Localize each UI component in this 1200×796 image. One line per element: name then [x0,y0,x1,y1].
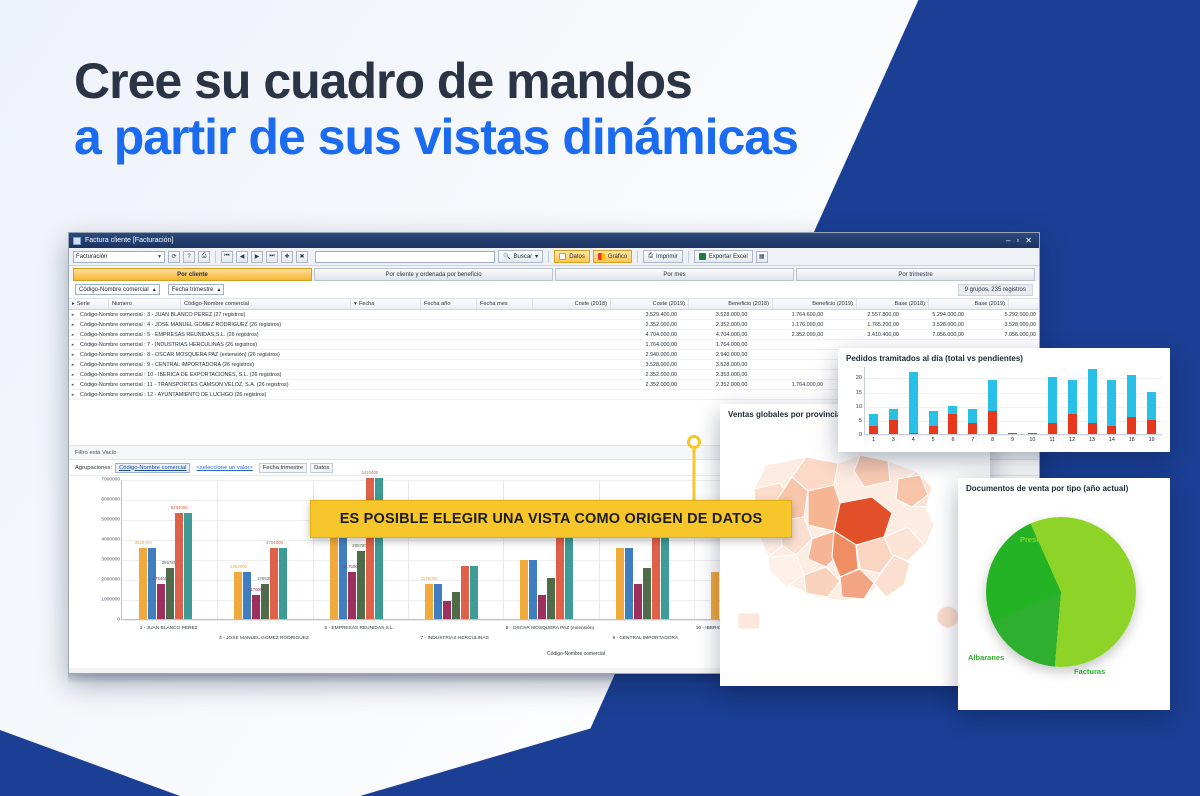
grid-cell-ba19: 3.528.000,00 [967,322,1039,328]
chevron-down-icon: ▲ [152,287,157,293]
x-axis-tick-label: 10 [1029,437,1035,443]
bar[interactable] [452,592,460,619]
expand-icon[interactable]: ▸ [69,312,77,318]
grid-cell-c18: 3.529.400,00 [610,312,680,318]
bar-pending [869,426,878,435]
minimize-icon[interactable]: – [1006,237,1011,245]
grid-column-label: Numero [112,301,132,307]
excel-icon [699,253,706,260]
app-icon [73,237,81,245]
imprimir-button[interactable]: ⎙ Imprimir [643,250,682,263]
grid-cell-ba18: 5.294.000,00 [902,312,967,318]
pie-label-presupuestos: Presupuestos [1020,535,1070,544]
records-info: 9 grupos, 235 registros [958,284,1033,296]
x-axis-tick-label: 4 [912,437,915,443]
x-axis-tick-label: 3 [892,437,895,443]
grid-cell-b19: 1.765.200,00 [826,322,902,328]
exportar-excel-button[interactable]: Exportar Excel [694,250,753,263]
tab-3[interactable]: Por trimestre [796,268,1035,281]
tab-0[interactable]: Por cliente [73,268,312,281]
expand-icon[interactable]: ▸ [69,332,77,338]
bar-pending [1048,423,1057,434]
expand-icon[interactable]: ▸ [69,362,77,368]
pedidos-chart-plot: 051015201345678910111213141819 [864,367,1162,435]
pie-chart-title: Documentos de venta por tipo (año actual… [958,478,1170,495]
bar-column[interactable] [988,366,997,434]
imprimir-button-label: Imprimir [656,254,678,260]
grid-cell-c19: 1.764.000,00 [680,342,750,348]
bar-pending [948,414,957,434]
grid-column-label: Beneficio (2018) [728,301,769,307]
bar[interactable]: 5294000 [175,513,183,619]
bar-value-label: 1176000 [421,576,438,581]
bar[interactable] [243,572,251,619]
bar[interactable] [547,578,555,619]
view-tabs: Por clientePor cliente y ordenada por be… [69,266,1039,281]
bar-column[interactable] [1147,366,1156,434]
bar-column[interactable] [889,366,898,434]
filter-label: Filtro está Vacío [75,450,116,456]
grid-cell-c18: 1.764.000,00 [610,342,680,348]
bar-column[interactable] [968,366,977,434]
window-controls[interactable]: – ▫ ✕ [1006,237,1035,245]
window-title: Factura cliente [Facturación] [85,237,1006,244]
bar[interactable]: 1176000 [252,595,260,619]
group-cell: Código-Nombre comercial : 11 - TRANSPORT… [77,382,462,388]
grid-cell-b18: 1.764.600,00 [750,312,826,318]
bar[interactable] [711,572,719,619]
grid-cell-ba19: 7.056.000,00 [967,332,1039,338]
grid-column-header[interactable]: Beneficio (2019) [773,299,857,309]
group-separator [217,480,218,619]
chart-icon [598,253,605,260]
group-chip-1-label: Código-Nombre comercial [79,287,149,293]
tab-label: Por cliente y ordenada por beneficio [385,272,481,278]
tab-1[interactable]: Por cliente y ordenada por beneficio [314,268,553,281]
group-cell: Código-Nombre comercial : 3 - JUAN BLANC… [77,312,462,318]
bar-value-label: 3410400 [361,470,378,475]
bar-column[interactable] [929,366,938,434]
x-axis-tick-label: 5 [932,437,935,443]
chevron-down-icon: ▾ [535,253,538,260]
pie-label-facturas: Facturas [1074,667,1105,676]
bar[interactable] [529,560,537,619]
grid-cell-c18: 2.352.000,00 [610,322,680,328]
bar[interactable]: 1176000 [348,572,356,619]
sort-arrow-icon: ▾ [354,301,357,307]
bar-group: 2352000117600017652004704000 [234,548,287,619]
agg-chip-2[interactable]: Fecha trimestre [259,463,307,473]
bar-pending [1028,433,1037,434]
expand-icon[interactable]: ▸ [69,382,77,388]
y-axis-tick-label: 15 [841,390,862,396]
grid-column-label: Fecha mes [480,301,508,307]
grid-column-label: Coste (2018) [575,301,607,307]
y-axis-tick-label: 1000000 [78,598,120,603]
table-row[interactable]: ▸Código-Nombre comercial : 4 - JOSE MANU… [69,320,1039,330]
agg-chip-3[interactable]: Datos [310,463,333,473]
headline-line-2: a partir de sus vistas dinámicas [74,112,798,164]
grid-column-header[interactable]: Beneficio (2018) [689,299,773,309]
group-chip-2-label: Fecha trimestre [172,287,214,293]
x-axis-tick-label: 6 [951,437,954,443]
grid-cell-b18: 1.764.000,00 [750,382,826,388]
bar[interactable] [434,584,442,619]
toolbar-separator [688,251,689,263]
bar-value-label: 4704000 [266,540,283,545]
bar[interactable] [556,537,564,619]
grid-column-header[interactable]: ▾Fecha [351,299,421,309]
grid-column-header[interactable]: Fecha año [421,299,477,309]
toolbar-separator [215,251,216,263]
grid-cell-c19: 2.353.000,00 [680,372,750,378]
y-axis-tick-label: 7000000 [78,478,120,483]
grid-column-label: Código-Nombre comercial [184,301,249,307]
group-cell: Código-Nombre comercial : 12 - AYUNTAMIE… [77,392,462,398]
x-axis-tick-label: 7 [971,437,974,443]
bar-group: 3529400176460025578005294000 [139,513,192,619]
y-axis-tick-label: 0 [78,618,120,623]
headline: Cree su cuadro de mandos a partir de sus… [74,56,798,163]
bar-pending [968,423,977,434]
bar[interactable] [625,548,633,619]
bar-column[interactable] [869,366,878,434]
grid-cell-c19: 4.704.000,00 [680,332,750,338]
grid-column-header[interactable]: Código-Nombre comercial [181,299,351,309]
refresh-icon[interactable]: ⟳ [168,251,180,263]
grid-line [865,435,1162,436]
bar-column[interactable] [909,366,918,434]
toolbar-separator [637,251,638,263]
agg-chip-0[interactable]: Código-Nombre comercial [115,463,190,473]
grid-cell-ba19: 5.292.000,00 [967,312,1039,318]
bar[interactable]: 1765200 [261,584,269,619]
search-button-label: Buscar [513,254,532,260]
group-cell: Código-Nombre comercial : 5 - EMPRESAS R… [77,332,462,338]
expand-icon[interactable]: ▸ [69,372,77,378]
bar-pending [1008,433,1017,434]
grid-column-header[interactable]: Numero [109,299,181,309]
print-preview-icon[interactable]: ⎙ [198,251,210,263]
x-axis-tick-label: 13 [1089,437,1095,443]
x-axis-tick-label: 18 [1129,437,1135,443]
last-record-icon[interactable]: ⏭ [266,251,278,263]
group-cell: Código-Nombre comercial : 7 - INDUSTRIAS… [77,342,462,348]
bar[interactable] [643,568,651,619]
add-record-icon[interactable]: ✚ [281,251,293,263]
search-icon: 🔍 [503,253,510,260]
bar-pending [1147,420,1156,434]
bar[interactable] [470,566,478,619]
grid-column-header[interactable]: ▸Serie [69,299,109,309]
grid-cell-c19: 3.528.000,00 [680,362,750,368]
printer-icon: ⎙ [648,253,653,260]
bar[interactable] [339,525,347,619]
bar-pending [929,426,938,435]
y-axis-tick-label: 4000000 [78,538,120,543]
headline-line-1: Cree su cuadro de mandos [74,56,798,108]
grid-cell-b18: 1.176.000,00 [750,322,826,328]
grid-column-label: Fecha año [424,301,450,307]
y-axis-tick-label: 3000000 [78,558,120,563]
bar-column[interactable] [948,366,957,434]
bar-pending [1088,423,1097,434]
grid-cell-c18: 3.528.000,00 [610,362,680,368]
callout-banner: ES POSIBLE ELEGIR UNA VISTA COMO ORIGEN … [310,500,792,538]
bar[interactable] [184,513,192,619]
grafico-button[interactable]: Gráfico [593,250,632,263]
bar[interactable] [616,548,624,619]
bar-pending [1127,417,1136,434]
x-axis-tick-label: 7 - INDUSTRIAS HERCULINAS [421,636,489,641]
search-input[interactable] [315,251,495,263]
bar[interactable] [148,548,156,619]
bar-pending [889,420,898,434]
y-axis-tick-label: 0 [841,432,862,438]
bar-column[interactable] [1028,366,1037,434]
grid-cell-ba18: 3.528.000,00 [902,322,967,328]
grid-column-header[interactable]: Base (2018) [857,299,929,309]
bar-group: 1176000 [425,566,478,619]
grid-column-label: Fecha [359,301,375,307]
group-cell: Código-Nombre comercial : 9 - CENTRAL IM… [77,362,462,368]
table-row[interactable]: ▸Código-Nombre comercial : 3 - JUAN BLAN… [69,310,1039,320]
bar[interactable]: 2352000 [330,525,338,619]
bar-column[interactable] [1127,366,1136,434]
pie-chart-wrapper: Presupuestos Albaranes Facturas [958,495,1170,691]
x-axis-tick-label: 9 [1011,437,1014,443]
grid-cell-b19: 3.410.400,00 [826,332,902,338]
sort-arrow-icon: ▸ [72,301,75,307]
grid-cell-c18: 2.940.000,00 [610,352,680,358]
bar[interactable] [461,566,469,619]
search-button[interactable]: 🔍 Buscar ▾ [498,250,543,263]
pie-label-albaranes: Albaranes [968,653,1004,662]
grid-cell-c18: 4.704.000,00 [610,332,680,338]
expand-icon[interactable]: ▸ [69,322,77,328]
y-axis-tick-label: 5 [841,418,862,424]
x-axis-tick-label: 8 - OSCAR MOSQUERA PAZ (extensión) [506,626,594,631]
grid-cell-b18: 2.352.000,00 [750,332,826,338]
grid-column-header[interactable]: Base (2019) [929,299,1009,309]
grid-column-header[interactable]: Fecha mes [477,299,533,309]
bar[interactable] [520,560,528,619]
prev-record-icon[interactable]: ◀ [236,251,248,263]
tab-label: Por trimestre [898,272,932,278]
datos-button-label: Datos [569,254,585,260]
bar[interactable]: 4704000 [270,548,278,619]
help-icon[interactable]: ? [183,251,195,263]
grafico-button-label: Gráfico [608,254,627,260]
grid-cell-c18: 2.352.000,00 [610,372,680,378]
tab-2[interactable]: Por mes [555,268,794,281]
exportar-button-label: Exportar Excel [709,254,748,260]
expand-icon[interactable]: ▸ [69,352,77,358]
window-titlebar: Factura cliente [Facturación] – ▫ ✕ [69,233,1039,248]
table-icon [559,253,566,260]
x-axis-tick-label: 14 [1109,437,1115,443]
bar[interactable]: 2352000 [234,572,242,619]
maximize-icon[interactable]: ▫ [1016,237,1020,245]
pedidos-chart-panel: Pedidos tramitados al día (total vs pend… [838,348,1170,452]
grid-column-label: Beneficio (2019) [812,301,853,307]
expand-icon[interactable]: ▸ [69,342,77,348]
x-axis-tick-label: 19 [1149,437,1155,443]
grid-cell-c19: 2.352.000,00 [680,322,750,328]
bar-pending [1107,426,1116,435]
grouping-bar: Código-Nombre comercial ▲ Fecha trimestr… [69,281,1039,299]
group-cell: Código-Nombre comercial : 10 - IBERICA D… [77,372,462,378]
bar-pending [1068,414,1077,434]
next-record-icon[interactable]: ▶ [251,251,263,263]
group-chip-1[interactable]: Código-Nombre comercial ▲ [75,284,160,295]
agg-chip-1[interactable]: <seleccione un valor> [193,463,255,473]
bar[interactable] [565,537,573,619]
module-combo-value: Facturación [76,254,107,260]
bar-value-label: 2352000 [230,564,247,569]
grid-column-header[interactable]: Coste (2018) [533,299,611,309]
y-axis-tick-label: 6000000 [78,498,120,503]
x-axis-tick-label: 8 [991,437,994,443]
x-axis-tick-label: 4 - JOSE MANUEL GOMEZ RODRIGUEZ [219,636,309,641]
grid-settings-icon[interactable]: ▦ [756,251,768,263]
bar[interactable] [634,584,642,619]
group-cell: Código-Nombre comercial : 4 - JOSE MANUE… [77,322,462,328]
x-axis-tick-label: 1 [872,437,875,443]
bar[interactable]: 3529400 [139,548,147,619]
bar[interactable]: 2557800 [166,568,174,619]
chevron-down-icon: ▼ [157,254,162,260]
bar-value-label: 5294000 [171,505,188,510]
aggregations-label: Agrupaciones: [75,465,112,471]
bar-column[interactable] [1048,366,1057,434]
bar-column[interactable] [1068,366,1077,434]
documentos-pie-panel: Documentos de venta por tipo (año actual… [958,478,1170,710]
first-record-icon[interactable]: ⏮ [221,251,233,263]
tab-label: Por cliente [177,272,208,278]
x-axis-tick-label: 3 - JUAN BLANCO PEREZ [140,626,198,631]
x-axis-tick-label: 12 [1069,437,1075,443]
main-toolbar: Facturación ▼ ⟳ ? ⎙ ⏮ ◀ ▶ ⏭ ✚ ✖ 🔍 Buscar… [69,248,1039,266]
bar[interactable] [538,595,546,619]
y-axis-tick-label: 20 [841,375,862,381]
bar-column[interactable] [1088,366,1097,434]
bar[interactable]: 1176000 [425,584,433,619]
grid-column-label: Coste (2019) [653,301,685,307]
close-icon[interactable]: ✕ [1025,237,1033,245]
datos-button[interactable]: Datos [554,250,590,263]
bar-column[interactable] [1107,366,1116,434]
chevron-down-icon: ▲ [216,287,221,293]
bar-pending [988,411,997,434]
y-axis-tick-label: 2000000 [78,578,120,583]
bar-group [520,537,573,619]
bar-column[interactable] [1008,366,1017,434]
y-axis-tick-label: 5000000 [78,518,120,523]
bar[interactable]: 2057800 [357,551,365,619]
x-axis-tick-label: 5 - EMPRESAS REUNIDAS,S.L. [325,626,395,631]
table-row[interactable]: ▸Código-Nombre comercial : 5 - EMPRESAS … [69,330,1039,340]
x-axis-tick-label: 11 [1049,437,1055,443]
pedidos-chart-title: Pedidos tramitados al día (total vs pend… [838,348,1170,365]
expand-icon[interactable]: ▸ [69,392,77,398]
bar[interactable]: 1764600 [157,584,165,619]
grid-column-label: Base (2018) [895,301,925,307]
grid-cell-ba18: 7.056.000,00 [902,332,967,338]
grid-header-row: ▸SerieNumeroCódigo-Nombre comercial▾Fech… [69,299,1039,310]
grid-column-label: Serie [77,301,90,307]
grid-cell-c19: 3.528.000,00 [680,312,750,318]
grid-cell-c19: 2.352.000,00 [680,382,750,388]
toolbar-separator [548,251,549,263]
bar[interactable] [279,548,287,619]
grid-column-header[interactable]: Coste (2019) [611,299,689,309]
module-combo[interactable]: Facturación ▼ [73,251,165,263]
group-cell: Código-Nombre comercial : 8 - OSCAR MOSQ… [77,352,462,358]
delete-record-icon[interactable]: ✖ [296,251,308,263]
grid-column-label: Base (2019) [975,301,1005,307]
group-chip-2[interactable]: Fecha trimestre ▲ [168,284,225,295]
y-axis-tick-label: 10 [841,404,862,410]
bar-total [909,372,918,434]
bar[interactable] [443,601,451,619]
bar-value-label: 3529400 [135,540,152,545]
x-axis-tick-label: 9 - CENTRAL IMPORTADORA [612,636,678,641]
bar-pending [909,433,918,434]
grid-cell-c19: 2.940.000,00 [680,352,750,358]
grid-cell-c18: 2.352.000,00 [610,382,680,388]
grid-cell-b19: 2.557.800,00 [826,312,902,318]
tab-label: Por mes [663,272,685,278]
